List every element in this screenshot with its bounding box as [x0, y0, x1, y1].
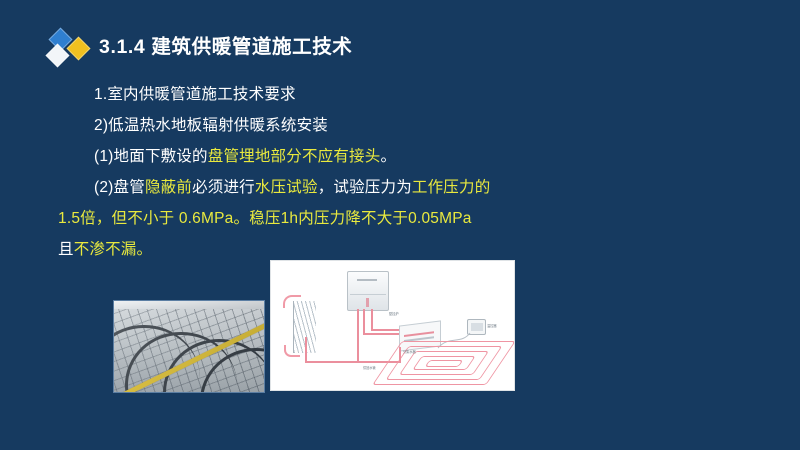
slide-header: 3.1.4 建筑供暖管道施工技术 — [0, 22, 800, 68]
page-title: 3.1.4 建筑供暖管道施工技术 — [99, 30, 352, 59]
text-line: 2)低温热水地板辐射供暖系统安装 — [0, 110, 800, 141]
plain-text: ，试验压力为 — [318, 179, 412, 196]
diagram-branch-pipe — [371, 309, 373, 329]
manifold-label: 分集水器 — [403, 349, 416, 354]
highlighted-text: 不渗不漏。 — [74, 241, 153, 258]
diagram-coil-feed — [399, 347, 401, 363]
shower-valve-icon — [284, 345, 300, 357]
shower-head-icon — [283, 295, 301, 308]
diagram-manifold-feed — [371, 329, 401, 331]
supply-pipe-label: 供回水管 — [363, 365, 376, 370]
diagram-supply-pipe — [357, 309, 359, 361]
plain-text: (2)盘管 — [94, 179, 145, 196]
text-line: 1.室内供暖管道施工技术要求 — [0, 79, 800, 110]
floor-heating-system-diagram: 壁挂炉 供回水管 分集水器 温控器 — [270, 260, 515, 391]
thermostat-screen — [471, 323, 483, 331]
plain-text: (1)地面下敷设的 — [94, 148, 208, 165]
text-line: (2)盘管隐蔽前必须进行水压试验，试验压力为工作压力的 — [0, 172, 800, 203]
highlighted-text: 1.5倍，但不小于 0.6MPa。稳压1h内压力降不大于0.05MPa — [58, 210, 472, 227]
plain-text: 必须进行 — [192, 179, 255, 196]
diagram-riser — [305, 337, 307, 362]
diagram-return-main — [305, 361, 359, 363]
boiler-outlet — [366, 298, 369, 307]
highlighted-text: 工作压力的 — [412, 179, 491, 196]
photo-shading-overlay — [114, 301, 264, 392]
text-line: (1)地面下敷设的盘管埋地部分不应有接头。 — [0, 141, 800, 172]
plain-text: 。 — [380, 148, 396, 165]
plain-text: 且 — [58, 241, 74, 258]
diagram-return-pipe — [363, 309, 365, 333]
diagram-manifold-return — [363, 333, 401, 335]
plain-text: 1.室内供暖管道施工技术要求 — [94, 86, 296, 103]
boiler-brand-strip — [357, 279, 377, 281]
slide-canvas: 3.1.4 建筑供暖管道施工技术 1.室内供暖管道施工技术要求2)低温热水地板辐… — [0, 0, 800, 450]
plain-text: 2)低温热水地板辐射供暖系统安装 — [94, 117, 328, 134]
boiler-seam — [350, 294, 386, 295]
thermostat-label: 温控器 — [487, 323, 497, 328]
body-text-block: 1.室内供暖管道施工技术要求2)低温热水地板辐射供暖系统安装(1)地面下敷设的盘… — [0, 79, 800, 265]
coil-ring — [425, 360, 464, 367]
three-diamond-logo — [46, 27, 102, 69]
highlighted-text: 盘管埋地部分不应有接头 — [208, 148, 381, 165]
floor-heating-installation-photo — [113, 300, 265, 393]
wall-hung-boiler-icon — [347, 271, 389, 311]
text-line: 1.5倍，但不小于 0.6MPa。稳压1h内压力降不大于0.05MPa — [0, 203, 800, 234]
highlighted-text: 水压试验 — [255, 179, 318, 196]
boiler-label: 壁挂炉 — [389, 311, 399, 316]
highlighted-text: 隐蔽前 — [145, 179, 192, 196]
floor-coil-spiral — [383, 339, 507, 387]
